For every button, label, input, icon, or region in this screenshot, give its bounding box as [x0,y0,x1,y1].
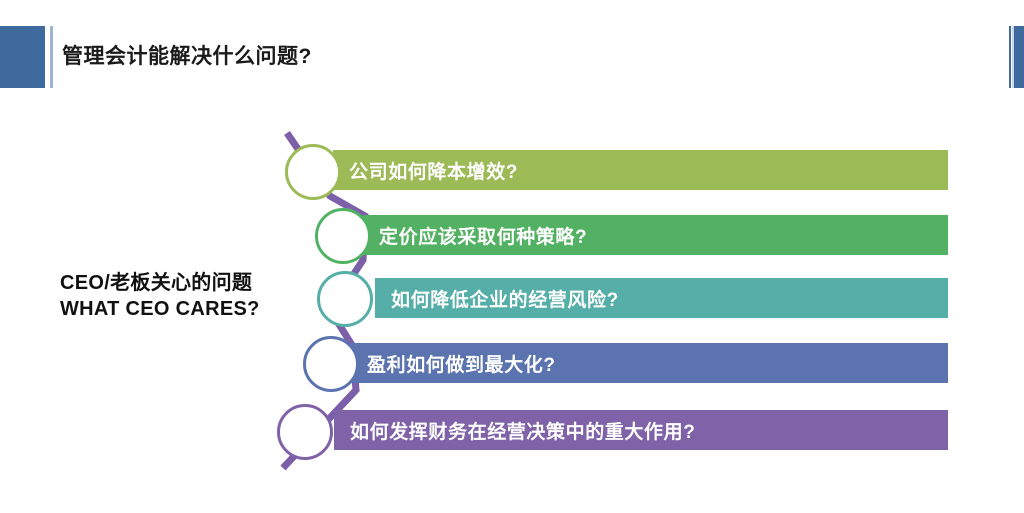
diagram-node-circle[interactable] [315,208,371,264]
diagram-bar-label: 如何降低企业的经营风险? [391,285,619,312]
diagram-bar-label: 公司如何降本增效? [349,157,518,184]
diagram-node-circle[interactable] [303,336,359,392]
diagram-node-circle[interactable] [285,144,341,200]
diagram-bar[interactable]: 盈利如何做到最大化? [351,343,948,383]
diagram-bar[interactable]: 公司如何降本增效? [333,150,948,190]
cares-diagram: 公司如何降本增效?定价应该采取何种策略?如何降低企业的经营风险?盈利如何做到最大… [0,0,1024,513]
diagram-node-circle[interactable] [277,404,333,460]
diagram-bar[interactable]: 如何降低企业的经营风险? [375,278,948,318]
diagram-bar-label: 盈利如何做到最大化? [367,350,556,377]
diagram-bar[interactable]: 如何发挥财务在经营决策中的重大作用? [334,410,948,450]
diagram-node-circle[interactable] [317,271,373,327]
diagram-bar-label: 定价应该采取何种策略? [379,222,587,249]
slide-canvas: 管理会计能解决什么问题? CEO/老板关心的问题 WHAT CEO CARES?… [0,0,1024,513]
diagram-bar-label: 如何发挥财务在经营决策中的重大作用? [350,417,695,444]
diagram-bar[interactable]: 定价应该采取何种策略? [363,215,948,255]
